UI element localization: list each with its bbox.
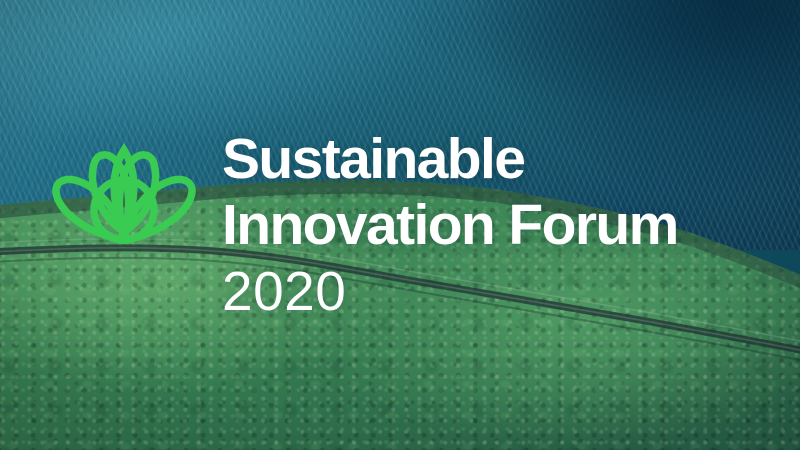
page-title-line-1: Sustainable [222,126,792,192]
lotus-petal-logo-icon [48,136,200,248]
sustainable-innovation-forum-banner: Sustainable Innovation Forum 2020 [0,0,800,450]
lotus-petal-logo [48,136,200,248]
page-title-line-2: Innovation Forum [222,192,792,258]
banner-title-block: Sustainable Innovation Forum 2020 [222,126,792,322]
event-year: 2020 [222,260,792,322]
